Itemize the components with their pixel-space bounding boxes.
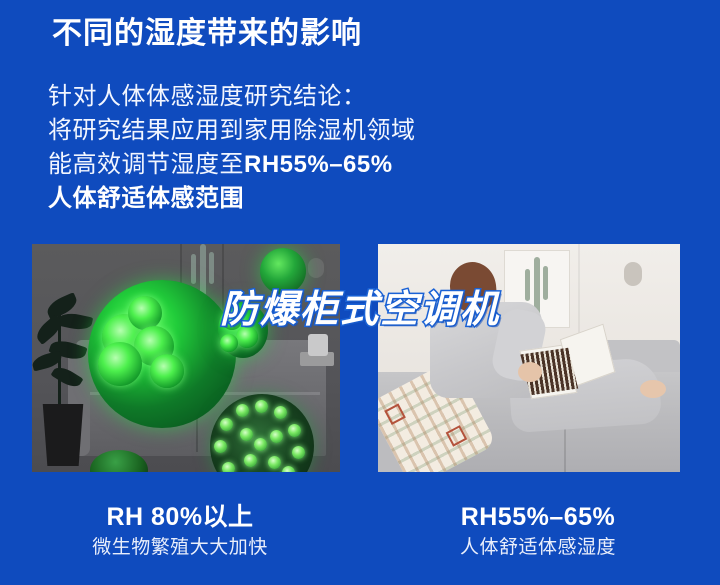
- caption-title: RH 80%以上: [10, 500, 350, 534]
- caption-high-humidity: RH 80%以上 微生物繁殖大大加快: [10, 500, 350, 562]
- virus-spike: [274, 406, 287, 419]
- copy-line-3-highlight: RH55%–65%: [244, 151, 393, 178]
- wall-lamp-icon: [308, 258, 324, 278]
- cushion-motif: [446, 425, 468, 447]
- plant-leaf: [51, 363, 84, 391]
- cushion-motif: [384, 403, 406, 425]
- microbe-cell: [128, 296, 162, 330]
- microbe-cell: [222, 310, 242, 330]
- caption-title: RH55%–65%: [368, 500, 708, 534]
- virus-spike: [220, 418, 233, 431]
- virus-spike: [254, 438, 267, 451]
- virus-spike: [240, 428, 253, 441]
- body-copy: 针对人体体感湿度研究结论： 将研究结果应用到家用除湿机领域 能高效调节湿度至RH…: [48, 80, 678, 216]
- panel-high-humidity: [32, 244, 340, 472]
- caption-subtitle: 人体舒适体感湿度: [368, 534, 708, 562]
- vase-shape: [308, 334, 328, 356]
- copy-line-2: 将研究结果应用到家用除湿机领域: [48, 114, 678, 148]
- microbe-cell: [98, 342, 142, 386]
- virus-spike: [244, 454, 257, 467]
- wall-lamp-icon: [624, 262, 642, 286]
- virus-spike: [270, 430, 283, 443]
- microbe-sphere-icon: [260, 248, 306, 294]
- plant-pot: [40, 404, 86, 466]
- microbe-cluster-icon: [218, 302, 268, 358]
- virus-spike: [236, 404, 249, 417]
- header: 不同的湿度带来的影响: [52, 14, 672, 54]
- virus-spike: [255, 400, 268, 413]
- poster-root: 不同的湿度带来的影响 针对人体体感湿度研究结论： 将研究结果应用到家用除湿机领域…: [0, 0, 720, 585]
- potted-plant-icon: [32, 296, 94, 472]
- virus-spike: [222, 462, 235, 472]
- copy-line-3-prefix: 能高效调节湿度至: [48, 151, 244, 178]
- plant-leaf: [57, 311, 93, 333]
- microbe-cluster-icon: [88, 280, 236, 428]
- microbe-cell: [220, 334, 238, 352]
- copy-line-3: 能高效调节湿度至RH55%–65%: [48, 148, 678, 182]
- virus-spike: [288, 424, 301, 437]
- panel-comfort-humidity: [378, 244, 680, 472]
- copy-line-4: 人体舒适体感范围: [48, 182, 678, 216]
- bright-room-photo: [378, 244, 680, 472]
- virus-spike: [292, 446, 305, 459]
- dark-room-photo: [32, 244, 340, 472]
- captions: RH 80%以上 微生物繁殖大大加快 RH55%–65% 人体舒适体感湿度: [0, 500, 720, 585]
- virus-spike: [268, 456, 281, 469]
- virus-spike: [282, 466, 295, 472]
- microbe-cell: [150, 354, 184, 388]
- microbe-cell: [236, 326, 258, 348]
- person-foot: [640, 380, 666, 398]
- virus-spike: [214, 440, 227, 453]
- page-title: 不同的湿度带来的影响: [52, 14, 672, 54]
- person-hand: [518, 362, 542, 382]
- photo-panels: [0, 244, 720, 474]
- copy-line-1: 针对人体体感湿度研究结论：: [48, 80, 678, 114]
- caption-subtitle: 微生物繁殖大大加快: [10, 534, 350, 562]
- caption-comfort-humidity: RH55%–65% 人体舒适体感湿度: [368, 500, 708, 562]
